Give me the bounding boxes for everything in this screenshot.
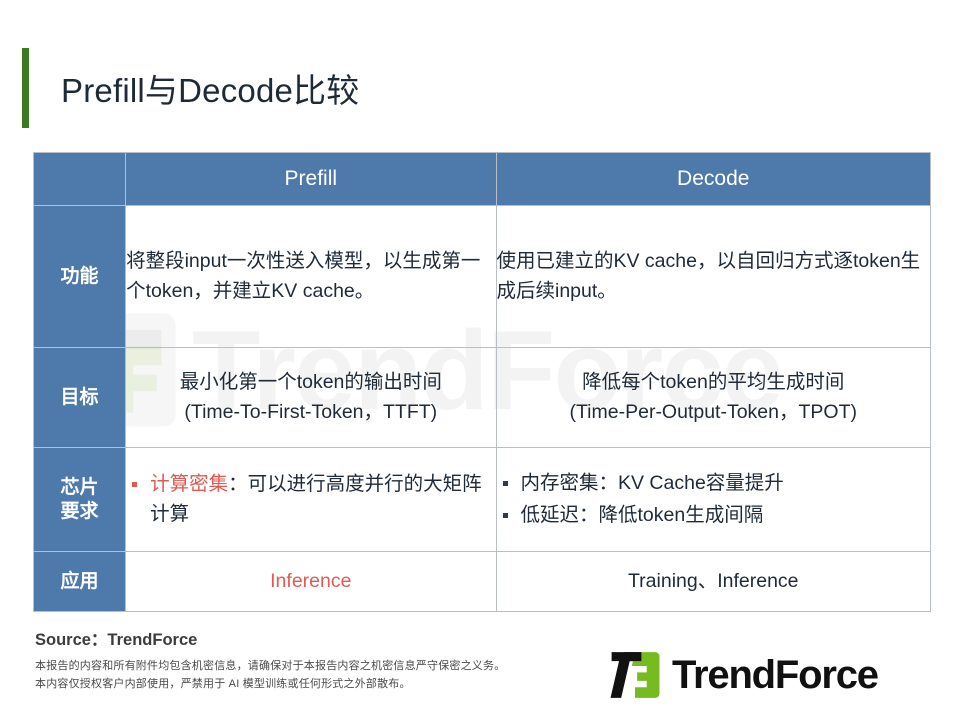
- row-label-goal: 目标: [34, 348, 126, 448]
- page-title: Prefill与Decode比较: [61, 64, 359, 112]
- prefill-decode-comparison-table: Prefill Decode 功能 将整段input一次性送入模型，以生成第一个…: [33, 152, 931, 612]
- source-label: Source：TrendForce: [35, 626, 595, 650]
- cell-goal-prefill-line2: (Time-To-First-Token，TTFT): [126, 398, 495, 428]
- table-header-row: Prefill Decode: [34, 153, 931, 206]
- trendforce-logo: TrendForce: [608, 648, 938, 702]
- disclaimer-line-1: 本报告的内容和所有附件均包含机密信息，请确保对于本报告内容之机密信息严守保密之义…: [35, 657, 595, 675]
- bullet-rest-text: 内存密集：KV Cache容量提升: [521, 472, 784, 494]
- table-corner-cell: [34, 153, 126, 206]
- row-label-chip-line2: 要求: [34, 500, 125, 524]
- bullet-rest-text: 低延迟：降低token生成间隔: [521, 504, 764, 526]
- cell-goal-decode-line1: 降低每个token的平均生成时间: [497, 368, 931, 398]
- row-label-chip-requirements: 芯片 要求: [34, 448, 126, 552]
- title-accent-bar: [22, 48, 29, 128]
- row-label-application: 应用: [34, 552, 126, 612]
- cell-application-decode: Training、Inference: [496, 552, 931, 612]
- cell-function-decode: 使用已建立的KV cache，以自回归方式逐token生成后续input。: [496, 206, 931, 348]
- table-row-chip-requirements: 芯片 要求 计算密集：可以进行高度并行的大矩阵计算 内存密集：KV Cache容…: [34, 448, 931, 552]
- chip-decode-bullet-list: 内存密集：KV Cache容量提升 低延迟：降低token生成间隔: [497, 469, 931, 530]
- bullet-square-icon: [132, 482, 137, 487]
- cell-function-prefill: 将整段input一次性送入模型，以生成第一个token，并建立KV cache。: [126, 206, 496, 348]
- row-label-chip-line1: 芯片: [34, 476, 125, 500]
- cell-chip-decode: 内存密集：KV Cache容量提升 低延迟：降低token生成间隔: [496, 448, 931, 552]
- cell-application-prefill: Inference: [126, 552, 496, 612]
- list-item: 计算密集：可以进行高度并行的大矩阵计算: [132, 470, 495, 529]
- row-label-function: 功能: [34, 206, 126, 348]
- bullet-square-icon: [503, 513, 508, 518]
- bullet-accent-text: 计算密集: [150, 473, 228, 495]
- trendforce-logo-mark-icon: [608, 650, 662, 700]
- table-row-function: 功能 将整段input一次性送入模型，以生成第一个token，并建立KV cac…: [34, 206, 931, 348]
- cell-chip-prefill: 计算密集：可以进行高度并行的大矩阵计算: [126, 448, 496, 552]
- slide-title-block: Prefill与Decode比较: [22, 48, 359, 128]
- list-item: 低延迟：降低token生成间隔: [503, 501, 931, 530]
- list-item: 内存密集：KV Cache容量提升: [503, 469, 931, 498]
- cell-goal-decode: 降低每个token的平均生成时间 (Time-Per-Output-Token，…: [496, 348, 931, 448]
- bullet-square-icon: [503, 481, 508, 486]
- cell-goal-prefill-line1: 最小化第一个token的输出时间: [126, 368, 495, 398]
- chip-prefill-bullet-list: 计算密集：可以进行高度并行的大矩阵计算: [126, 470, 495, 529]
- table-row-application: 应用 Inference Training、Inference: [34, 552, 931, 612]
- disclaimer-line-2: 本内容仅授权客户内部使用，严禁用于 AI 模型训练或任何形式之外部散布。: [35, 675, 595, 693]
- footer-block: Source：TrendForce 本报告的内容和所有附件均包含机密信息，请确保…: [35, 626, 595, 693]
- column-header-decode: Decode: [496, 153, 931, 206]
- trendforce-logo-wordmark: TrendForce: [672, 653, 878, 698]
- cell-goal-prefill: 最小化第一个token的输出时间 (Time-To-First-Token，TT…: [126, 348, 496, 448]
- column-header-prefill: Prefill: [126, 153, 496, 206]
- table-row-goal: 目标 最小化第一个token的输出时间 (Time-To-First-Token…: [34, 348, 931, 448]
- cell-goal-decode-line2: (Time-Per-Output-Token，TPOT): [497, 398, 931, 428]
